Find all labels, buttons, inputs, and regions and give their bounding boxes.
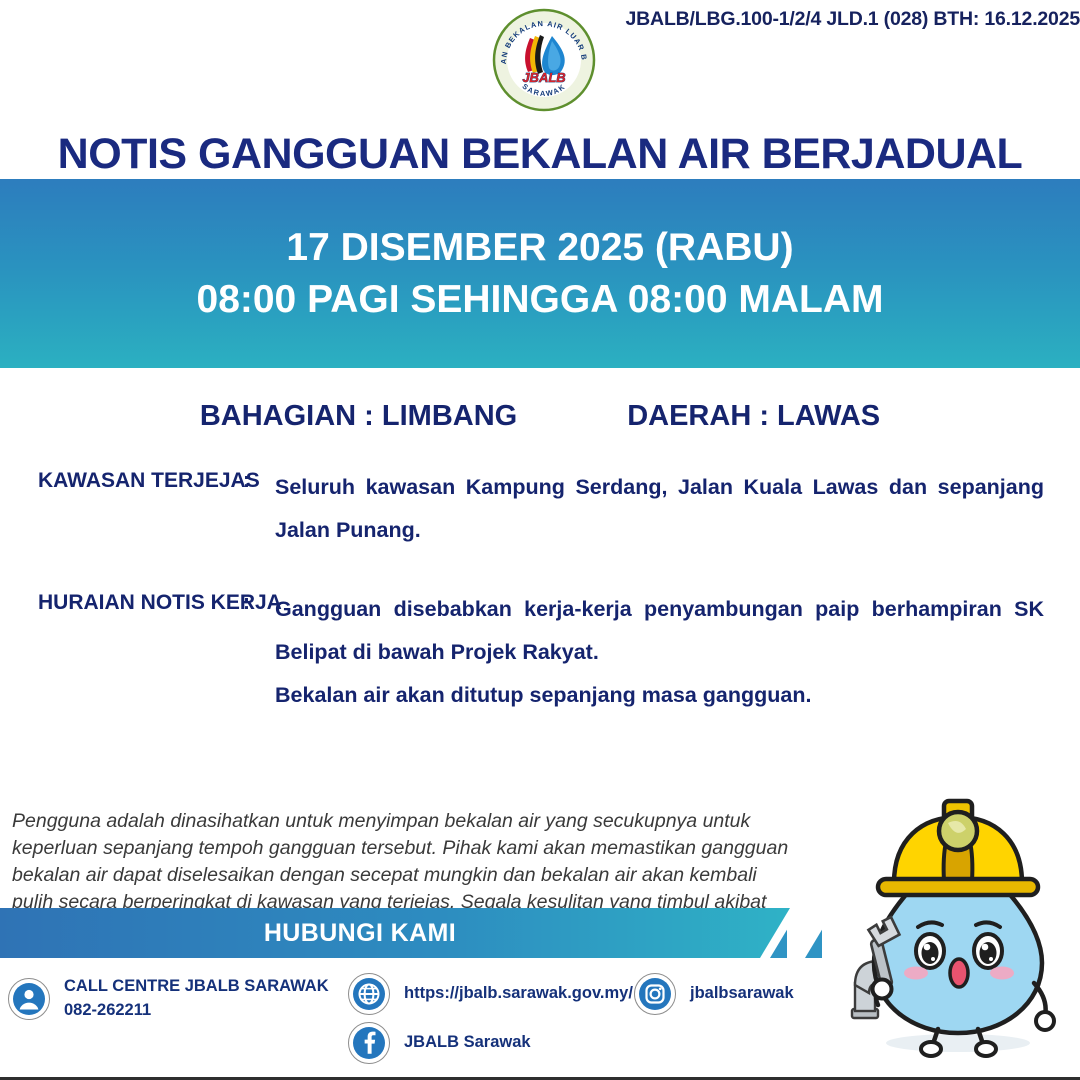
contact-facebook[interactable]: JBALB Sarawak bbox=[348, 1022, 531, 1064]
detail-colon: : bbox=[243, 588, 275, 717]
contact-instagram[interactable]: jbalbsarawak bbox=[634, 973, 794, 1015]
bahagian-label: BAHAGIAN : LIMBANG bbox=[200, 400, 517, 433]
call-centre-phone: 082-262211 bbox=[64, 999, 329, 1023]
detail-colon: : bbox=[243, 466, 275, 552]
yellow-hard-hat-icon bbox=[878, 801, 1038, 895]
detail-line: Gangguan disebabkan kerja-kerja penyambu… bbox=[275, 588, 1044, 674]
banner-date: 17 DISEMBER 2025 (RABU) bbox=[286, 222, 793, 273]
detail-line: Bekalan air akan ditutup sepanjang masa … bbox=[275, 674, 1044, 717]
detail-label: HURAIAN NOTIS KERJA bbox=[0, 588, 243, 717]
jbalb-logo-icon: JABATAN BEKALAN AIR LUAR BANDAR SARAWAK … bbox=[492, 8, 596, 112]
banner-time: 08:00 PAGI SEHINGGA 08:00 MALAM bbox=[197, 274, 884, 325]
instagram-icon bbox=[634, 973, 676, 1015]
detail-row-huraian-notis-kerja: HURAIAN NOTIS KERJA : Gangguan disebabka… bbox=[0, 588, 1080, 717]
detail-row-kawasan-terjejas: KAWASAN TERJEJAS : Seluruh kawasan Kampu… bbox=[0, 466, 1080, 552]
header: JBALB/LBG.100-1/2/4 JLD.1 (028) BTH: 16.… bbox=[0, 0, 1080, 120]
instagram-handle: jbalbsarawak bbox=[690, 982, 794, 1006]
contact-call-centre[interactable]: CALL CENTRE JBALB SARAWAK 082-262211 bbox=[8, 975, 329, 1023]
daerah-label: DAERAH : LAWAS bbox=[627, 400, 880, 433]
facebook-icon bbox=[348, 1022, 390, 1064]
svg-text:JBALB: JBALB bbox=[522, 70, 565, 85]
detail-value: Gangguan disebabkan kerja-kerja penyambu… bbox=[275, 588, 1080, 717]
division-row: BAHAGIAN : LIMBANG DAERAH : LAWAS bbox=[0, 400, 1080, 433]
detail-section: KAWASAN TERJEJAS : Seluruh kawasan Kampu… bbox=[0, 466, 1080, 743]
detail-value: Seluruh kawasan Kampung Serdang, Jalan K… bbox=[275, 466, 1080, 552]
person-icon bbox=[8, 978, 50, 1020]
reference-number: JBALB/LBG.100-1/2/4 JLD.1 (028) BTH: 16.… bbox=[626, 8, 1080, 31]
contact-website[interactable]: https://jbalb.sarawak.gov.my/ bbox=[348, 973, 633, 1015]
page-title: NOTIS GANGGUAN BEKALAN AIR BERJADUAL bbox=[0, 130, 1080, 179]
decorative-stripe-icon bbox=[805, 908, 822, 958]
water-droplet-mascot-icon bbox=[826, 793, 1076, 1065]
date-time-banner: 17 DISEMBER 2025 (RABU) 08:00 PAGI SEHIN… bbox=[0, 179, 1080, 368]
detail-label: KAWASAN TERJEJAS bbox=[0, 466, 243, 552]
globe-icon bbox=[348, 973, 390, 1015]
contact-call-centre-text: CALL CENTRE JBALB SARAWAK 082-262211 bbox=[64, 975, 329, 1023]
contact-bar: HUBUNGI KAMI bbox=[0, 908, 790, 958]
call-centre-name: CALL CENTRE JBALB SARAWAK bbox=[64, 977, 329, 995]
detail-line: Seluruh kawasan Kampung Serdang, Jalan K… bbox=[275, 466, 1044, 552]
contact-bar-label: HUBUNGI KAMI bbox=[264, 919, 456, 948]
website-url: https://jbalb.sarawak.gov.my/ bbox=[404, 982, 633, 1006]
facebook-name: JBALB Sarawak bbox=[404, 1031, 531, 1055]
